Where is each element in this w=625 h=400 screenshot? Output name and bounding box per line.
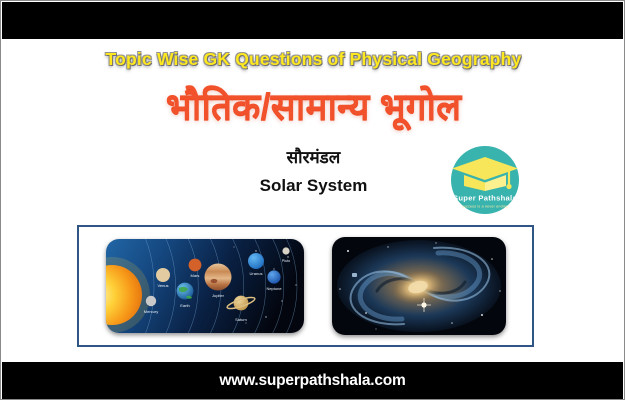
planet-label-pluto: Pluto [282, 259, 290, 263]
site-url-text: www.superpathshala.com [219, 372, 405, 390]
top-black-bar [2, 2, 623, 39]
image-frame: Mercury Venus Earth Mars Jupiter [77, 225, 534, 347]
planet-label-uranus: Uranus [250, 271, 263, 276]
planet-label-mars: Mars [191, 273, 200, 278]
logo-brand-text: Super Pathshala [453, 194, 517, 203]
super-pathshala-logo: Super Pathshala success is a never endin… [432, 146, 538, 214]
page-title-hindi: भौतिक/सामान्य भूगोल [1, 85, 625, 129]
planet-label-jupiter: Jupiter [212, 293, 225, 298]
spiral-galaxy-icon [332, 237, 506, 335]
planet-label-neptune: Neptune [266, 286, 282, 291]
planet-label-earth: Earth [180, 303, 190, 308]
planet-label-mercury: Mercury [144, 309, 158, 314]
planet-label-venus: Venus [157, 283, 168, 288]
bottom-url-bar: www.superpathshala.com [2, 362, 623, 399]
poster-canvas: Topic Wise GK Questions of Physical Geog… [0, 0, 625, 400]
logo-tagline-text: success is a never ending [462, 205, 508, 209]
solar-system-diagram-icon: Mercury Venus Earth Mars Jupiter [106, 239, 304, 333]
solar-system-image: Mercury Venus Earth Mars Jupiter [106, 239, 304, 333]
page-headline: Topic Wise GK Questions of Physical Geog… [1, 49, 625, 70]
galaxy-image [332, 237, 506, 335]
planet-label-saturn: Saturn [235, 317, 247, 322]
graduation-cap-logo-icon: Super Pathshala success is a never endin… [432, 146, 538, 214]
